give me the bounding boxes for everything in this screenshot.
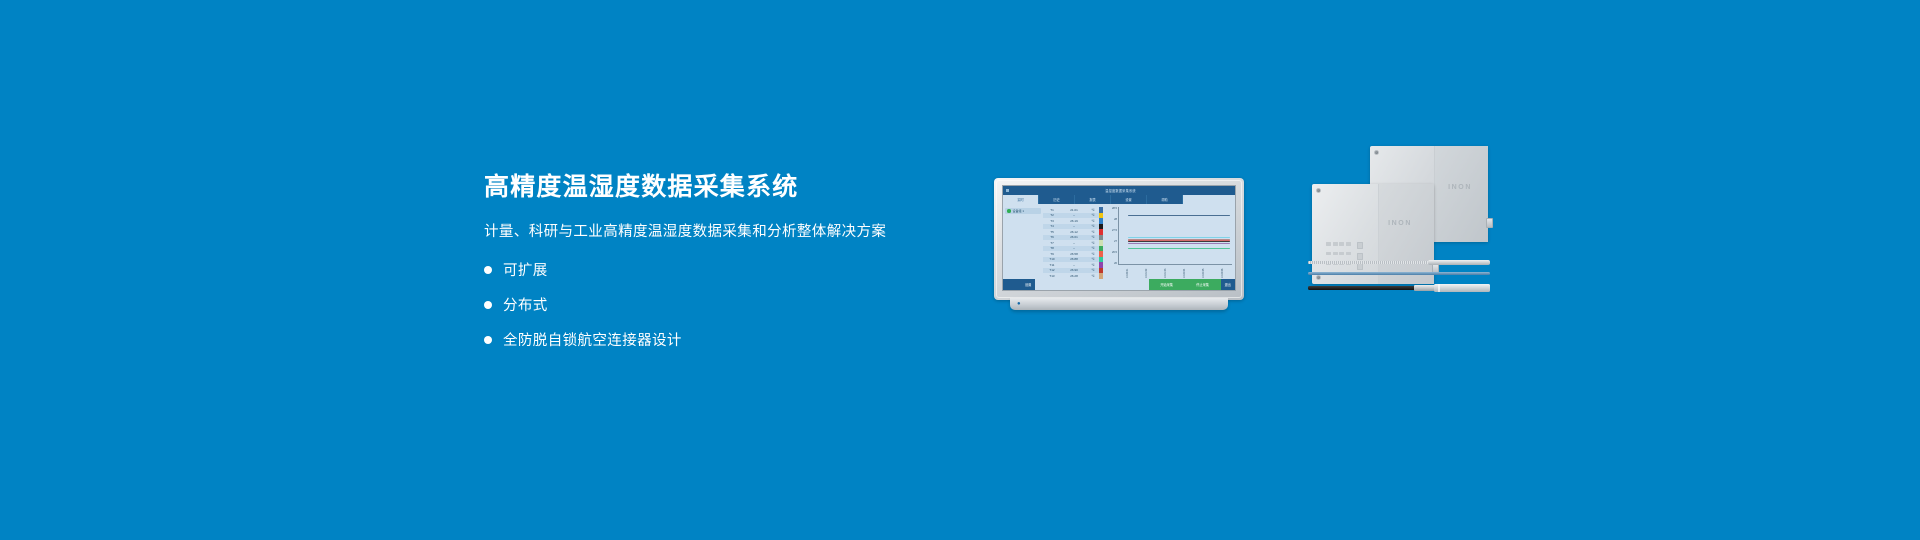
x-tick-label: 14:22:35 <box>1202 265 1205 278</box>
product-devices-image: INON INON <box>1300 142 1490 302</box>
cell-channel: T6 <box>1043 235 1061 239</box>
stop-acquisition-button[interactable]: 停止采集 <box>1185 279 1221 290</box>
cell-unit: ℃ <box>1087 224 1099 228</box>
start-acquisition-button[interactable]: 开始采集 <box>1149 279 1185 290</box>
temperature-probe-connector <box>1308 284 1490 292</box>
tab-report[interactable]: 报表 <box>1075 195 1111 204</box>
product-monitor-image: 温湿度数据采集系统 实时 历史 报表 设置 帮助 设备组 1 T121.01℃T… <box>994 178 1244 300</box>
y-tick-label: 26.5 <box>1112 251 1117 254</box>
terminal-grid <box>1326 242 1351 270</box>
software-tabbar: 实时 历史 报表 设置 帮助 <box>1003 195 1235 204</box>
cell-channel: T4 <box>1043 224 1061 228</box>
tabbar-spacer <box>1183 195 1235 204</box>
list-item: 全防脱自锁航空连接器设计 <box>484 329 954 350</box>
terminal-block-panel <box>1326 242 1363 270</box>
brand-logo-back: INON <box>1448 184 1472 191</box>
cell-channel: T9 <box>1043 252 1061 256</box>
table-row[interactable]: T2--℃ <box>1043 213 1099 219</box>
cell-unit: ℃ <box>1087 235 1099 239</box>
brand-logo-front: INON <box>1388 220 1412 227</box>
bullet-label: 全防脱自锁航空连接器设计 <box>503 329 682 350</box>
chart-series-line <box>1128 243 1230 244</box>
device-tree-node[interactable]: 设备组 1 <box>1005 208 1041 214</box>
cell-value: 26.28 <box>1061 274 1087 278</box>
table-row[interactable]: T926.58℃ <box>1043 251 1099 257</box>
x-tick-label: 14:22:04 <box>1183 265 1186 278</box>
cell-value: 26.12 <box>1061 230 1087 234</box>
probe-ferrule <box>1414 285 1436 291</box>
monitor-screen: 温湿度数据采集系统 实时 历史 报表 设置 帮助 设备组 1 T121.01℃T… <box>1002 185 1236 291</box>
chart-series-line <box>1128 215 1230 216</box>
cell-unit: ℃ <box>1087 268 1099 272</box>
page-subtitle: 计量、科研与工业高精度温湿度数据采集和分析整体解决方案 <box>484 220 954 241</box>
connector-port <box>1486 218 1493 228</box>
cell-unit: ℃ <box>1087 208 1099 212</box>
cell-unit: ℃ <box>1087 246 1099 250</box>
cell-channel: T7 <box>1043 241 1061 245</box>
table-row[interactable]: T11--℃ <box>1043 262 1099 268</box>
bullet-dot-icon <box>484 266 492 274</box>
probe-cable <box>1308 286 1420 289</box>
x-tick-label: 14:21:02 <box>1145 265 1148 278</box>
tab-settings[interactable]: 设置 <box>1111 195 1147 204</box>
table-row[interactable]: T1026.88℃ <box>1043 257 1099 263</box>
humidity-probe-cable <box>1308 272 1490 275</box>
cell-value: 26.90 <box>1061 268 1087 272</box>
cell-channel: T5 <box>1043 230 1061 234</box>
monitor-stand: ● <box>1010 298 1228 310</box>
channel-table: T121.01℃T2--℃T326.19℃T4--℃T526.12℃T626.6… <box>1043 204 1099 279</box>
cell-channel: T8 <box>1043 246 1061 250</box>
chart-series-line <box>1128 248 1230 249</box>
device-tree: 设备组 1 <box>1003 204 1043 279</box>
enclosure-front-right-face <box>1378 184 1434 284</box>
cell-value: 26.14 <box>1061 290 1087 291</box>
y-tick-label: 28.5 <box>1112 207 1117 210</box>
cell-unit: ℃ <box>1087 252 1099 256</box>
enclosure-front-unit: INON <box>1312 184 1434 284</box>
bullet-label: 分布式 <box>503 294 548 315</box>
cell-channel: T11 <box>1043 263 1061 267</box>
cell-unit: ℃ <box>1087 290 1099 291</box>
x-tick-label: 14:20:31 <box>1126 265 1129 278</box>
probe-cable <box>1308 261 1432 264</box>
feature-bullet-list: 可扩展 分布式 全防脱自锁航空连接器设计 <box>484 259 954 350</box>
probe-body <box>1434 284 1490 292</box>
cell-value: 26.19 <box>1061 219 1087 223</box>
x-tick-label: 14:21:33 <box>1164 265 1167 278</box>
table-row[interactable]: T1326.28℃ <box>1043 273 1099 279</box>
table-row[interactable]: T4--℃ <box>1043 224 1099 230</box>
exit-button[interactable]: 退出 <box>1221 281 1235 289</box>
table-row[interactable]: T326.19℃ <box>1043 218 1099 224</box>
y-tick-label: 27.5 <box>1112 229 1117 232</box>
cell-unit: ℃ <box>1087 219 1099 223</box>
monitor-bezel: 温湿度数据采集系统 实时 历史 报表 设置 帮助 设备组 1 T121.01℃T… <box>994 178 1244 300</box>
list-item: 分布式 <box>484 294 954 315</box>
settings-button[interactable]: 设置 <box>1021 281 1035 289</box>
cell-value: -- <box>1061 263 1087 267</box>
software-titlebar: 温湿度数据采集系统 <box>1003 186 1235 195</box>
screw-icon <box>1316 188 1321 193</box>
probe-cable <box>1308 272 1490 275</box>
enclosure-back-right-face <box>1434 146 1488 242</box>
temperature-probe-steel <box>1308 260 1490 265</box>
tab-history[interactable]: 历史 <box>1039 195 1075 204</box>
cell-unit: ℃ <box>1087 263 1099 267</box>
table-row[interactable]: T121.01℃ <box>1043 207 1099 213</box>
cell-unit: ℃ <box>1087 257 1099 261</box>
cell-channel: T13 <box>1043 274 1061 278</box>
tab-realtime[interactable]: 实时 <box>1003 195 1039 204</box>
chart-y-axis: 28.52827.52726.526 <box>1105 207 1117 265</box>
cell-channel: T1 <box>1043 208 1061 212</box>
cell-value: 26.58 <box>1061 252 1087 256</box>
table-row[interactable]: T7--℃ <box>1043 240 1099 246</box>
software-body: 设备组 1 T121.01℃T2--℃T326.19℃T4--℃T526.12℃… <box>1003 204 1235 279</box>
y-tick-label: 27 <box>1114 240 1117 243</box>
chart-x-axis: 14:20:3114:21:0214:21:3314:22:0414:22:35… <box>1118 265 1232 278</box>
screw-icon <box>1374 150 1379 155</box>
y-tick-label: 26 <box>1114 262 1117 265</box>
software-footer: 设置 开始采集 停止采集 退出 <box>1003 279 1235 290</box>
cell-value: -- <box>1061 213 1087 217</box>
cell-channel: T2 <box>1043 213 1061 217</box>
tab-help[interactable]: 帮助 <box>1147 195 1183 204</box>
cell-unit: ℃ <box>1087 274 1099 278</box>
probe-tip <box>1428 260 1490 265</box>
cell-unit: ℃ <box>1087 230 1099 234</box>
chart-plot-area <box>1118 207 1232 265</box>
trend-chart: 28.52827.52726.526 14:20:3114:21:0214:21… <box>1103 204 1235 279</box>
screw-icon <box>1316 275 1321 280</box>
cell-value: -- <box>1061 241 1087 245</box>
cell-unit: ℃ <box>1087 241 1099 245</box>
software-window-title: 温湿度数据采集系统 <box>1009 188 1232 193</box>
cell-channel: T10 <box>1043 257 1061 261</box>
list-item: 可扩展 <box>484 259 954 280</box>
table-row[interactable]: T8--℃ <box>1043 246 1099 252</box>
table-row[interactable]: T1226.90℃ <box>1043 268 1099 274</box>
page-title: 高精度温湿度数据采集系统 <box>484 172 954 203</box>
cell-value: 26.61 <box>1061 235 1087 239</box>
cell-channel: T16 <box>1043 290 1061 291</box>
x-tick-label: 14:23:06 <box>1221 265 1224 278</box>
table-row[interactable]: T626.61℃ <box>1043 235 1099 241</box>
cell-value: 21.01 <box>1061 208 1087 212</box>
y-tick-label: 28 <box>1114 218 1117 221</box>
cell-channel: T3 <box>1043 219 1061 223</box>
cell-value: -- <box>1061 246 1087 250</box>
cell-value: -- <box>1061 224 1087 228</box>
table-row[interactable]: T526.12℃ <box>1043 229 1099 235</box>
bullet-label: 可扩展 <box>503 259 548 280</box>
port-column <box>1357 242 1363 270</box>
footer-spacer <box>1035 279 1148 290</box>
cell-value: 26.88 <box>1061 257 1087 261</box>
device-tree-label: 设备组 1 <box>1013 209 1025 213</box>
bullet-dot-icon <box>484 336 492 344</box>
chart-series-line <box>1128 241 1230 242</box>
cell-unit: ℃ <box>1087 213 1099 217</box>
bullet-dot-icon <box>484 301 492 309</box>
chart-series-line <box>1128 237 1230 238</box>
banner-copy: 高精度温湿度数据采集系统 计量、科研与工业高精度温湿度数据采集和分析整体解决方案… <box>484 172 954 364</box>
power-led-icon: ● <box>1017 302 1021 306</box>
cell-channel: T12 <box>1043 268 1061 272</box>
status-led-icon <box>1007 209 1011 213</box>
